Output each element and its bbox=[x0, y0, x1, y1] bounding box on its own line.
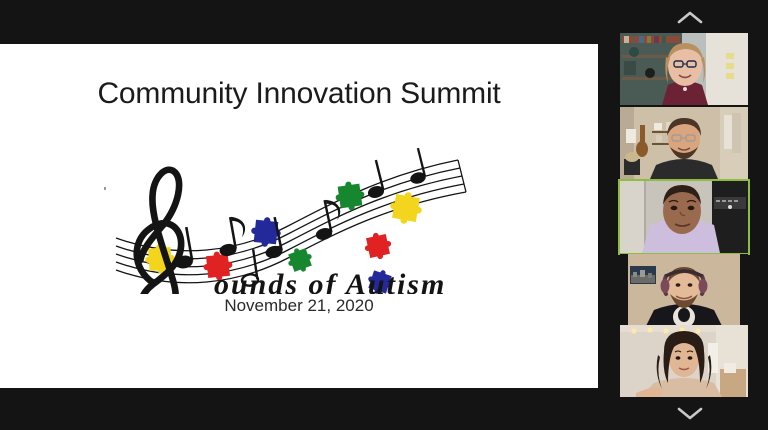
shared-screen-region[interactable]: Community Innovation Summit bbox=[0, 0, 612, 430]
sounds-of-autism-logo: ounds of Autism bbox=[88, 134, 488, 294]
logo-wordmark: ounds of Autism bbox=[214, 268, 446, 294]
slide-date: November 21, 2020 bbox=[0, 296, 598, 316]
participant-tile[interactable] bbox=[620, 107, 748, 179]
participant-tile[interactable] bbox=[620, 254, 748, 326]
scroll-up-button[interactable] bbox=[612, 2, 768, 32]
chevron-up-icon bbox=[677, 11, 703, 24]
participant-video bbox=[620, 107, 748, 179]
zoom-meeting-window: Community Innovation Summit bbox=[0, 0, 768, 430]
chevron-down-icon bbox=[677, 407, 703, 420]
treble-clef-icon bbox=[137, 170, 181, 294]
logo-artwork: ounds of Autism bbox=[88, 134, 488, 294]
participant-video bbox=[620, 254, 748, 326]
participant-filmstrip[interactable] bbox=[612, 0, 768, 430]
scroll-down-button[interactable] bbox=[612, 398, 768, 428]
presentation-slide[interactable]: Community Innovation Summit bbox=[0, 44, 598, 388]
participant-video bbox=[620, 325, 748, 397]
participant-tile[interactable] bbox=[620, 325, 748, 397]
participant-tile[interactable] bbox=[620, 33, 748, 105]
slide-title: Community Innovation Summit bbox=[0, 77, 598, 111]
participant-tile-active-speaker[interactable] bbox=[620, 181, 748, 253]
participant-video bbox=[620, 181, 748, 253]
logo-speck bbox=[104, 187, 106, 190]
participant-video bbox=[620, 33, 748, 105]
